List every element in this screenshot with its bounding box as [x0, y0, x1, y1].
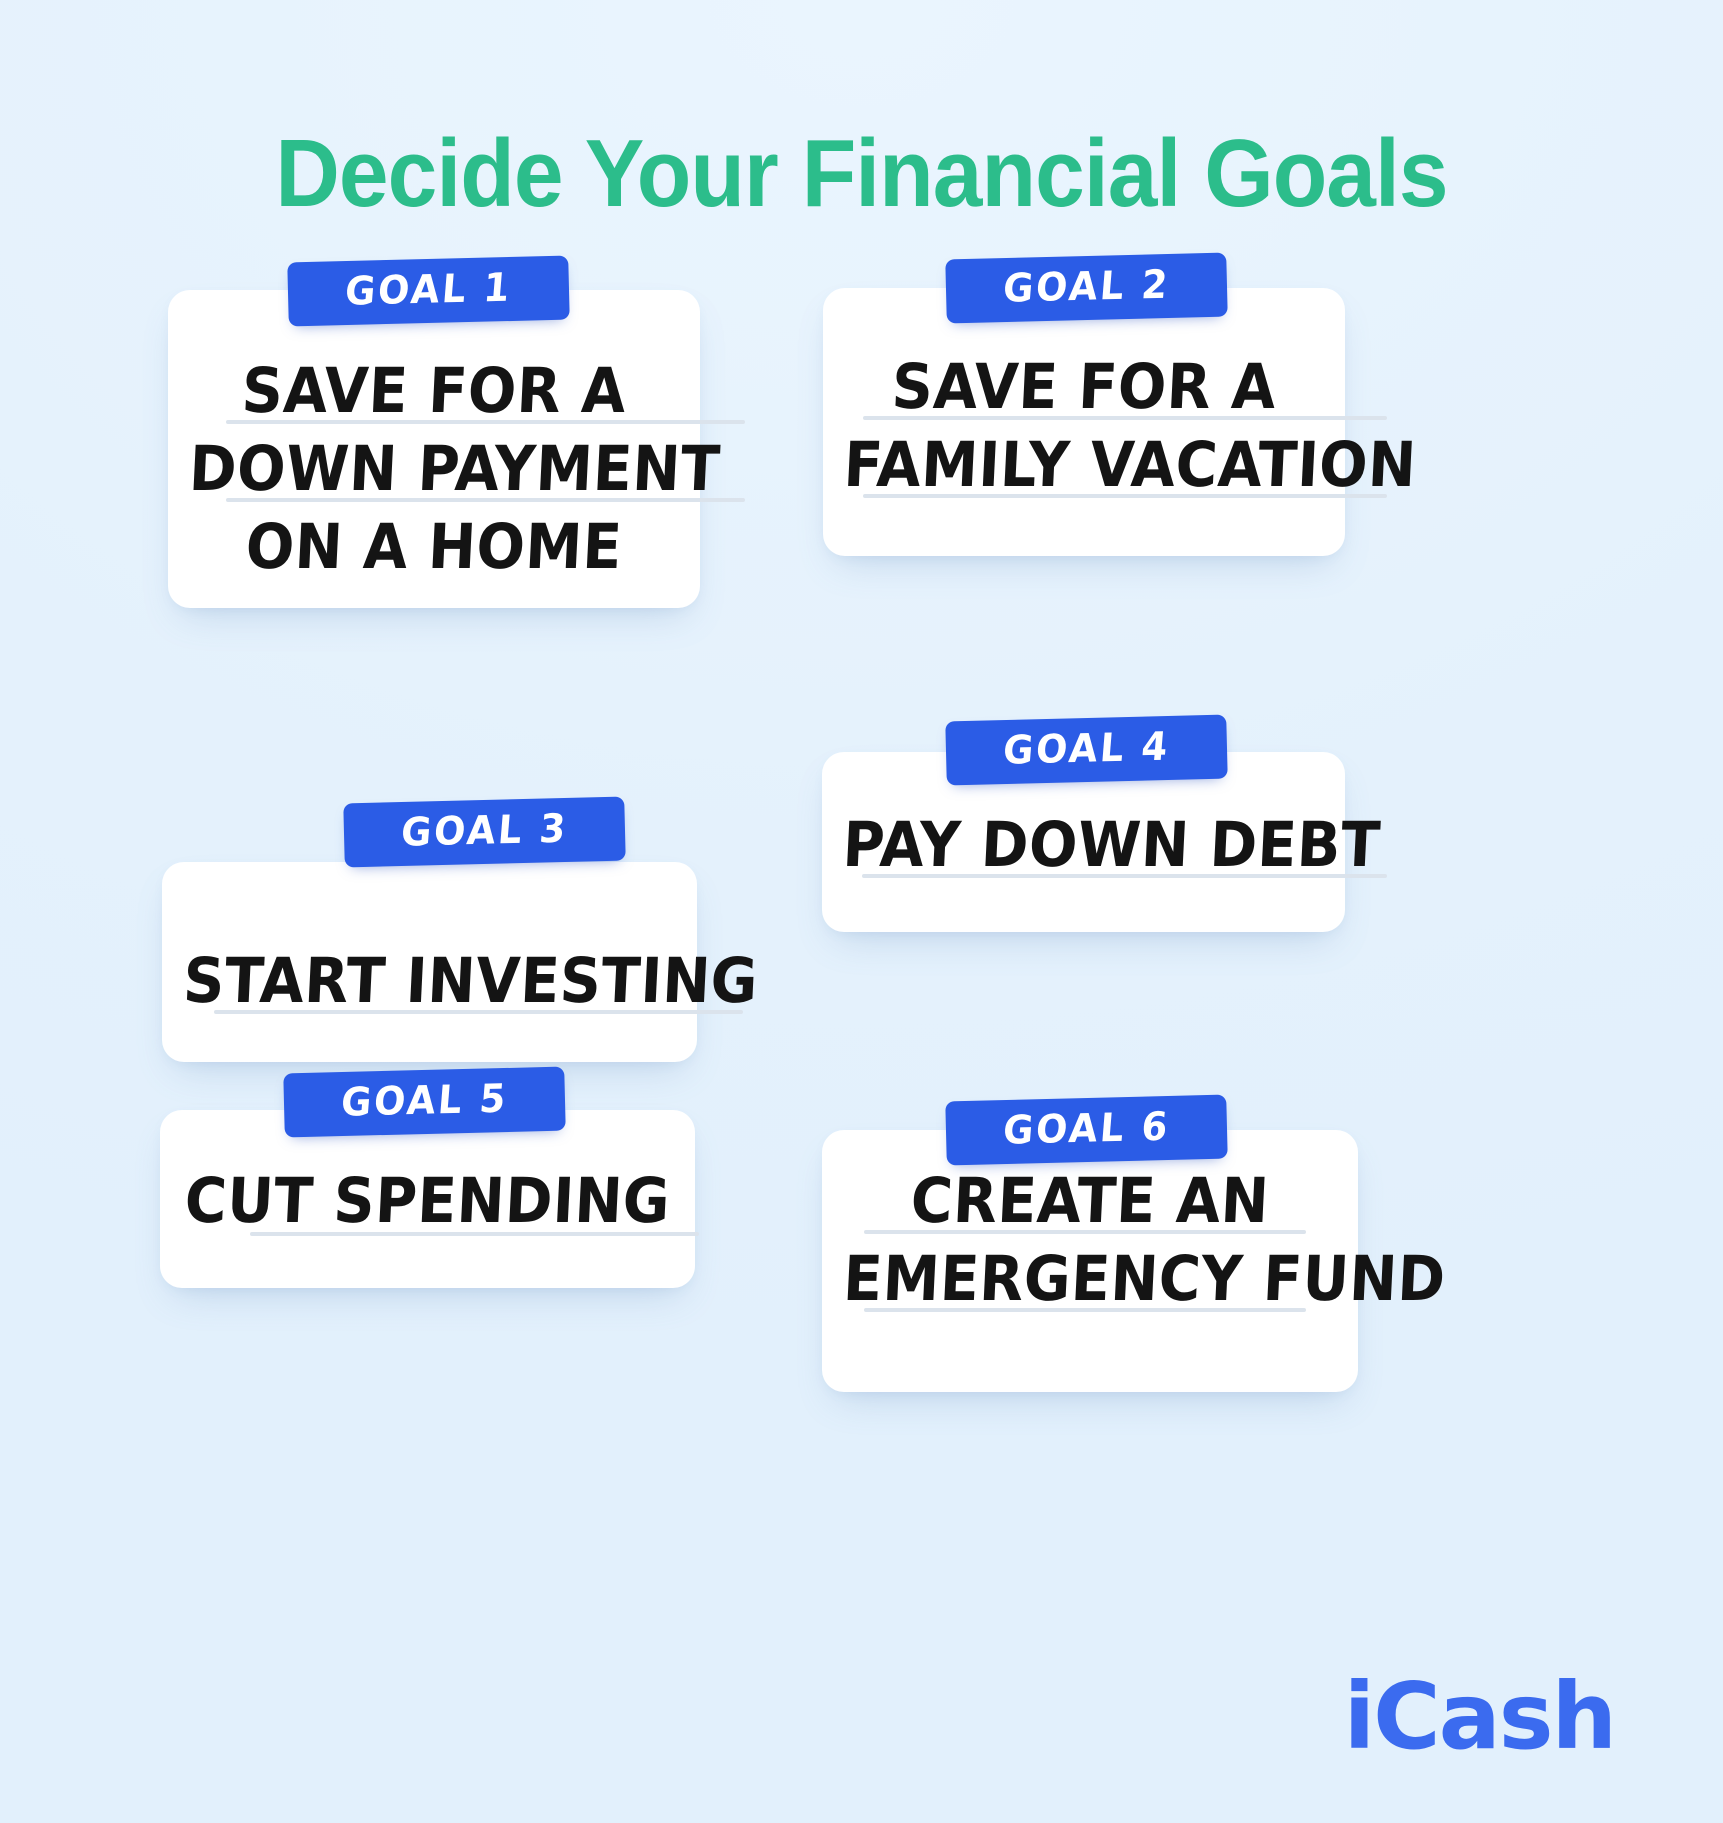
- goal-badge-5[interactable]: GOAL 5: [283, 1067, 565, 1138]
- goal-text-4: PAY DOWN DEBT: [822, 806, 1345, 884]
- icash-logo[interactable]: iCash: [1344, 1671, 1615, 1763]
- goal-badge-label: GOAL 4: [1001, 727, 1171, 774]
- goal-badge-1[interactable]: GOAL 1: [287, 256, 569, 327]
- goal-badge-4[interactable]: GOAL 4: [945, 715, 1227, 786]
- goal-text-line: ON A HOME: [187, 508, 680, 586]
- infographic-page: Decide Your Financial Goals SAVE FOR A D…: [0, 0, 1723, 1823]
- goal-badge-label: GOAL 6: [1001, 1107, 1171, 1154]
- goal-card-6[interactable]: CREATE AN EMERGENCY FUND: [822, 1130, 1358, 1392]
- goal-text-1: SAVE FOR A DOWN PAYMENT ON A HOME: [168, 352, 700, 586]
- goal-text-5: CUT SPENDING: [160, 1162, 695, 1240]
- goal-badge-3[interactable]: GOAL 3: [343, 797, 625, 868]
- goal-text-6: CREATE AN EMERGENCY FUND: [822, 1162, 1358, 1318]
- goal-card-2[interactable]: SAVE FOR A FAMILY VACATION: [823, 288, 1345, 556]
- goal-text-line: CUT SPENDING: [180, 1162, 676, 1240]
- goal-badge-label: GOAL 3: [399, 809, 569, 856]
- goal-text-line: START INVESTING: [182, 942, 678, 1020]
- goal-text-line: SAVE FOR A: [187, 352, 680, 430]
- goal-text-line: EMERGENCY FUND: [842, 1240, 1339, 1318]
- goal-cards-grid: SAVE FOR A DOWN PAYMENT ON A HOME GOAL 1…: [0, 0, 1723, 1823]
- goal-text-3: START INVESTING: [162, 942, 697, 1020]
- goal-text-2: SAVE FOR A FAMILY VACATION: [823, 348, 1345, 504]
- goal-text-line: FAMILY VACATION: [842, 426, 1326, 504]
- goal-text-line: DOWN PAYMENT: [187, 430, 680, 508]
- goal-text-line: SAVE FOR A: [842, 348, 1326, 426]
- goal-card-5[interactable]: CUT SPENDING: [160, 1110, 695, 1288]
- goal-badge-6[interactable]: GOAL 6: [945, 1095, 1227, 1166]
- goal-badge-2[interactable]: GOAL 2: [945, 253, 1227, 324]
- goal-badge-label: GOAL 5: [339, 1079, 509, 1126]
- goal-card-1[interactable]: SAVE FOR A DOWN PAYMENT ON A HOME: [168, 290, 700, 608]
- goal-text-line: PAY DOWN DEBT: [841, 806, 1326, 884]
- goal-card-3[interactable]: START INVESTING: [162, 862, 697, 1062]
- goal-text-line: CREATE AN: [842, 1162, 1339, 1240]
- goal-badge-label: GOAL 1: [343, 268, 513, 315]
- goal-badge-label: GOAL 2: [1001, 265, 1171, 312]
